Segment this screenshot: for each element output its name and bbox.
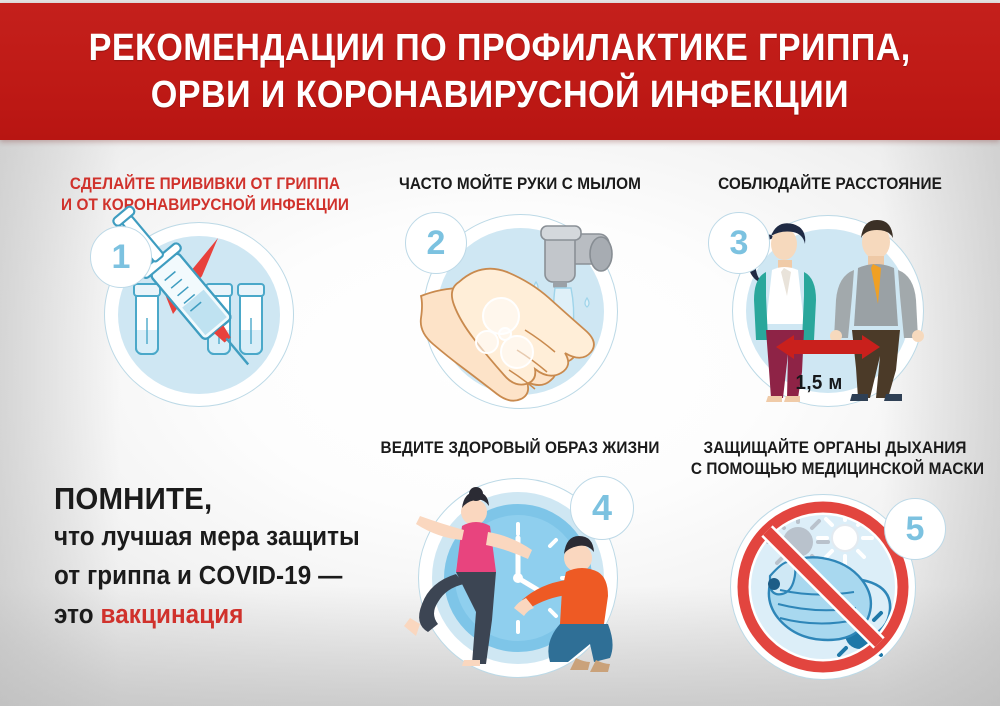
remember-line-3-prefix: это bbox=[54, 601, 101, 629]
remember-block: ПОМНИТЕ, что лучшая мера защиты от грипп… bbox=[54, 480, 384, 635]
distance-label: 1,5 м bbox=[796, 372, 843, 395]
step-1-number: 1 bbox=[112, 238, 131, 277]
step-4-number-badge: 4 bbox=[570, 476, 634, 540]
remember-line-3: это вакцинация bbox=[54, 596, 368, 635]
step-5-caption-line-1: ЗАЩИЩАЙТЕ ОРГАНЫ ДЫХАНИЯ bbox=[691, 438, 979, 459]
step-5-illustration: 5 bbox=[710, 494, 960, 684]
step-5-card: ЗАЩИЩАЙТЕ ОРГАНЫ ДЫХАНИЯ С ПОМОЩЬЮ МЕДИЦ… bbox=[680, 432, 990, 682]
remember-line-2: от гриппа и COVID-19 — bbox=[54, 557, 368, 596]
infographic-poster: РЕКОМЕНДАЦИИ ПО ПРОФИЛАКТИКЕ ГРИППА, ОРВ… bbox=[0, 0, 1000, 706]
step-4-illustration: 4 bbox=[388, 476, 653, 681]
step-3-number: 3 bbox=[730, 224, 749, 263]
remember-line-1: что лучшая мера защиты bbox=[54, 518, 368, 557]
step-4-card: ВЕДИТЕ ЗДОРОВЫЙ ОБРАЗ ЖИЗНИ bbox=[370, 432, 670, 682]
remember-lead: ПОМНИТЕ, bbox=[54, 480, 368, 518]
step-4-caption-line-1: ВЕДИТЕ ЗДОРОВЫЙ ОБРАЗ ЖИЗНИ bbox=[381, 438, 660, 459]
header-title-line-2: ОРВИ И КОРОНАВИРУСНОЙ ИНФЕКЦИИ bbox=[151, 72, 849, 119]
step-4-number: 4 bbox=[592, 487, 612, 529]
step-2-card: ЧАСТО МОЙТЕ РУКИ С МЫЛОМ bbox=[370, 168, 670, 428]
step-2-number: 2 bbox=[427, 224, 446, 263]
step-1-caption-line-2: И ОТ КОРОНАВИРУСНОЙ ИНФЕКЦИИ bbox=[52, 195, 359, 216]
step-2-caption-line-1: ЧАСТО МОЙТЕ РУКИ С МЫЛОМ bbox=[381, 174, 660, 195]
vaccine-vial-left bbox=[134, 284, 160, 354]
step-2-number-badge: 2 bbox=[405, 212, 467, 274]
vaccine-vial-right bbox=[238, 284, 264, 354]
distance-arrow-icon bbox=[776, 335, 880, 359]
step-1-caption-line-1: СДЕЛАЙТЕ ПРИВИВКИ ОТ ГРИППА bbox=[52, 174, 359, 195]
step-1-card: СДЕЛАЙТЕ ПРИВИВКИ ОТ ГРИППА И ОТ КОРОНАВ… bbox=[40, 168, 370, 428]
person-man bbox=[830, 220, 924, 401]
step-3-number-badge: 3 bbox=[708, 212, 770, 274]
step-3-card: СОБЛЮДАЙТЕ РАССТОЯНИЕ bbox=[680, 168, 980, 428]
step-5-number: 5 bbox=[906, 510, 925, 549]
step-3-illustration: 1,5 м 3 bbox=[708, 212, 948, 412]
faucet-icon bbox=[541, 226, 612, 288]
step-3-caption-line-1: СОБЛЮДАЙТЕ РАССТОЯНИЕ bbox=[691, 174, 970, 195]
step-5-number-badge: 5 bbox=[884, 498, 946, 560]
poster-header: РЕКОМЕНДАЦИИ ПО ПРОФИЛАКТИКЕ ГРИППА, ОРВ… bbox=[0, 3, 1000, 140]
step-1-illustration: 1 bbox=[90, 222, 310, 407]
step-5-caption-line-2: С ПОМОЩЬЮ МЕДИЦИНСКОЙ МАСКИ bbox=[691, 459, 979, 480]
header-title-line-1: РЕКОМЕНДАЦИИ ПО ПРОФИЛАКТИКЕ ГРИППА, bbox=[89, 25, 911, 72]
step-1-number-badge: 1 bbox=[90, 226, 152, 288]
step-2-illustration: 2 bbox=[405, 212, 635, 412]
remember-accent-word: вакцинация bbox=[101, 601, 244, 629]
